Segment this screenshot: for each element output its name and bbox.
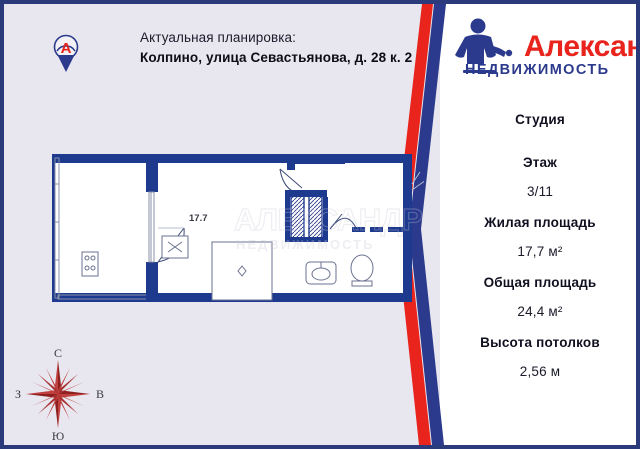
compass-needle [26,360,90,428]
property-details: Студия Этаж 3/11 Жилая площадь 17,7 м² О… [452,112,628,379]
compass-label-east: В [96,387,104,401]
ceiling-height-value: 2,56 м [452,364,628,379]
living-area-label: Жилая площадь [452,215,628,230]
map-pin-icon: А [52,33,80,73]
compass-rose: С Ю З В [12,346,124,442]
floor-label: Этаж [452,155,628,170]
compass-label-south: Ю [52,429,64,442]
washbasin-icon [306,262,336,284]
ceiling-height-label: Высота потолков [452,335,628,350]
stove-icon [82,252,98,276]
company-logo: Александр НЕДВИЖИМОСТЬ [452,12,636,92]
floor-value: 3/11 [452,184,628,199]
kitchen-sink-icon [162,236,188,258]
total-area-value: 24,4 м² [452,304,628,319]
map-pin-letter: А [61,40,72,57]
compass-label-west: З [15,387,21,401]
room-area-label: 17.7 [189,213,208,224]
header-address: Колпино, улица Севастьянова, д. 28 к. 2 [140,50,412,65]
shower-tray-icon [212,242,272,300]
living-area-value: 17,7 м² [452,244,628,259]
bathroom-partition [352,227,403,232]
toilet-icon [351,255,373,286]
property-type: Студия [452,112,628,127]
floor-plan-drawing: 17.7 [34,144,424,319]
floorplan-document: А Актуальная планировка: Колпино, улица … [0,0,640,449]
total-area-label: Общая площадь [452,275,628,290]
logo-brand: Александр [524,30,636,63]
header-text-block: Актуальная планировка: Колпино, улица Се… [140,30,412,65]
balcony-door [149,192,154,262]
header-caption: Актуальная планировка: [140,30,412,45]
logo-subtitle: НЕДВИЖИМОСТЬ [465,62,609,78]
compass-label-north: С [54,346,62,360]
